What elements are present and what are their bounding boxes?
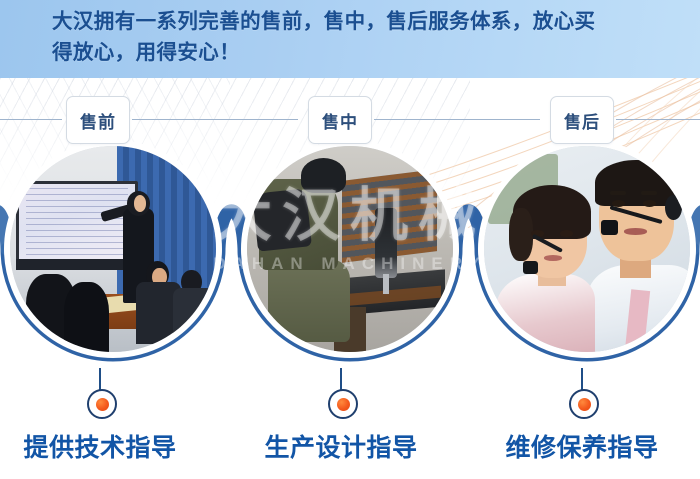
connector-line-start [0,119,62,120]
connector-line-2 [374,119,540,120]
header-text-block: 大汉拥有一系列完善的售前，售中，售后服务体系，放心买 得放心，用得安心！ [52,6,672,68]
stage-pill-post-sale[interactable]: 售后 [550,96,614,144]
scene-call-center [484,146,690,352]
header-banner: 大汉拥有一系列完善的售前，售中，售后服务体系，放心买 得放心，用得安心！ [0,0,700,78]
marker-stem-1 [99,368,101,390]
stage-pill-label: 售前 [80,108,116,133]
caption-post-sale: 维修保养指导 [467,428,697,464]
stage-pill-mid-sale[interactable]: 售中 [308,96,372,144]
dot-marker-icon-3 [569,389,599,419]
dot-marker-icon-1 [87,389,117,419]
header-line-2: 得放心，用得安心！ [52,37,672,68]
stage-pill-label: 售中 [322,108,358,133]
marker-stem-3 [581,368,583,390]
caption-mid-sale: 生产设计指导 [226,428,456,464]
connector-line-1 [132,119,298,120]
scene-training-room [10,146,216,352]
scene-workshop-drilling [247,146,453,352]
stage-pill-label: 售后 [564,108,600,133]
header-line-1: 大汉拥有一系列完善的售前，售中，售后服务体系，放心买 [52,6,672,37]
dot-marker-icon-2 [328,389,358,419]
marker-stem-2 [340,368,342,390]
connector-line-end [616,119,700,120]
photo-circle-pre-sale [4,140,222,358]
service-system-banner: 大汉拥有一系列完善的售前，售中，售后服务体系，放心买 得放心，用得安心！ [0,0,700,479]
caption-pre-sale: 提供技术指导 [0,428,215,464]
photo-circle-post-sale [478,140,696,358]
stage-pill-pre-sale[interactable]: 售前 [66,96,130,144]
photo-circle-mid-sale [241,140,459,358]
